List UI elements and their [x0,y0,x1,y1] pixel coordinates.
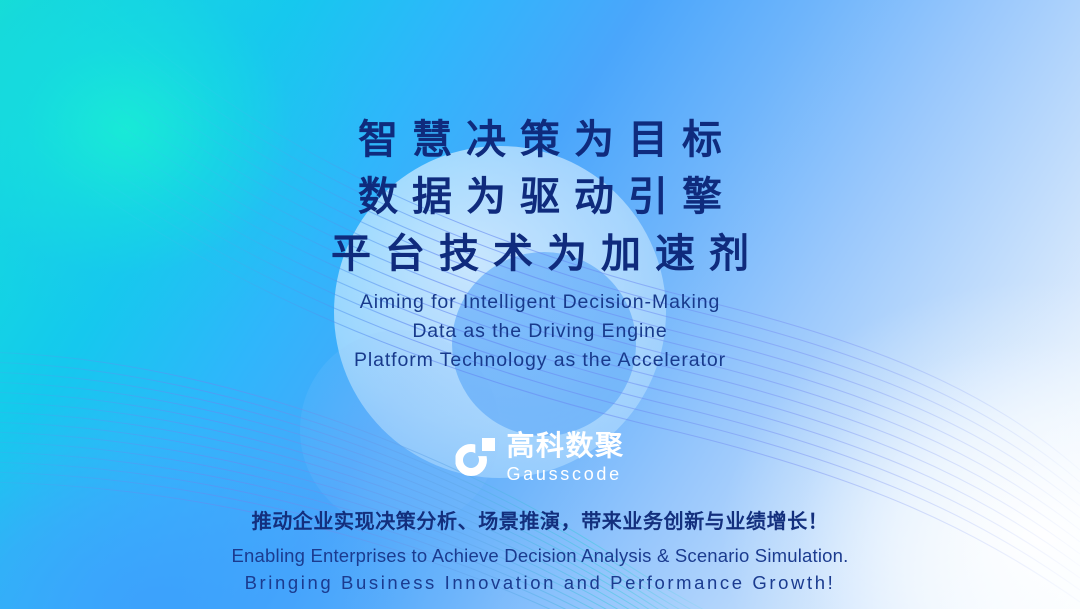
headline-block: 智慧决策为目标 数据为驱动引擎 平台技术为加速剂 [317,112,763,283]
headline-line-1: 智慧决策为目标 [317,112,763,169]
subheadline-line-1: Aiming for Intelligent Decision-Making [354,288,726,317]
footer-tagline-en-line-2: Bringing Business Innovation and Perform… [232,569,849,596]
logo-name-cn: 高科数聚 [506,431,624,461]
footer-block: 推动企业实现决策分析、场景推演，带来业务创新与业绩增长！ Enabling En… [232,507,849,596]
footer-tagline-cn: 推动企业实现决策分析、场景推演，带来业务创新与业绩增长！ [232,507,849,537]
banner-content: 智慧决策为目标 数据为驱动引擎 平台技术为加速剂 Aiming for Inte… [0,0,1080,609]
headline-line-2: 数据为驱动引擎 [317,169,763,226]
logo-square-shape [482,438,495,451]
company-logo: 高科数聚 Gausscode [455,431,624,485]
footer-tagline-en-line-1: Enabling Enterprises to Achieve Decision… [232,543,849,569]
headline-line-3: 平台技术为加速剂 [317,226,763,283]
subheadline-line-3: Platform Technology as the Accelerator [354,346,726,375]
gausscode-ring-icon [455,438,495,478]
subheadline-block: Aiming for Intelligent Decision-Making D… [354,288,726,375]
promotional-banner: 智慧决策为目标 数据为驱动引擎 平台技术为加速剂 Aiming for Inte… [0,0,1080,609]
logo-wordmark: 高科数聚 Gausscode [506,431,624,485]
subheadline-line-2: Data as the Driving Engine [354,317,726,346]
logo-name-en: Gausscode [506,463,624,485]
